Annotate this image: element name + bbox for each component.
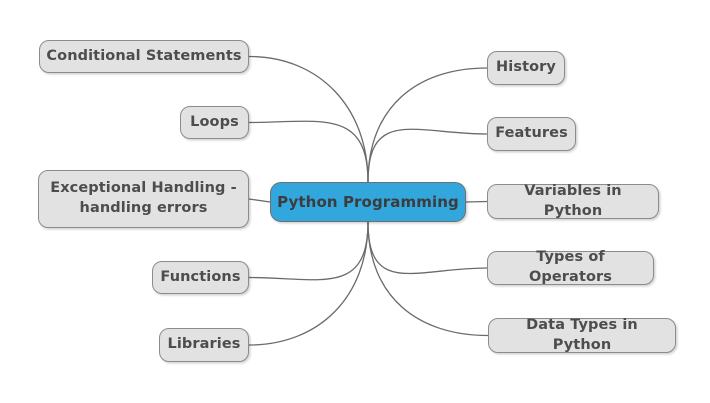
- mindmap-node-loops[interactable]: Loops: [180, 106, 249, 139]
- mindmap-node-libraries[interactable]: Libraries: [159, 328, 249, 362]
- mindmap-root-node[interactable]: Python Programming: [270, 182, 466, 222]
- connector-libraries: [249, 222, 368, 345]
- mindmap-node-variables-in-python[interactable]: Variables in Python: [487, 184, 659, 219]
- mindmap-node-functions[interactable]: Functions: [152, 261, 249, 294]
- mindmap-node-history[interactable]: History: [487, 51, 565, 85]
- connector-features: [368, 129, 487, 182]
- connector-variables-in-python: [466, 202, 487, 203]
- mindmap-node-exceptional-handling[interactable]: Exceptional Handling - handling errors: [38, 170, 249, 228]
- mindmap-node-features[interactable]: Features: [487, 117, 576, 151]
- connector-data-types-in-python: [368, 222, 488, 336]
- mindmap-canvas: Python ProgrammingConditional Statements…: [0, 0, 710, 403]
- connector-history: [368, 68, 487, 182]
- connector-functions: [249, 222, 368, 280]
- mindmap-node-data-types-in-python[interactable]: Data Types in Python: [488, 318, 676, 353]
- connector-loops: [249, 121, 368, 182]
- connector-types-of-operators: [368, 222, 487, 274]
- mindmap-node-conditional-statements[interactable]: Conditional Statements: [39, 40, 249, 73]
- mindmap-node-types-of-operators[interactable]: Types of Operators: [487, 251, 654, 285]
- connector-exceptional-handling: [249, 199, 270, 202]
- connector-conditional-statements: [249, 57, 368, 183]
